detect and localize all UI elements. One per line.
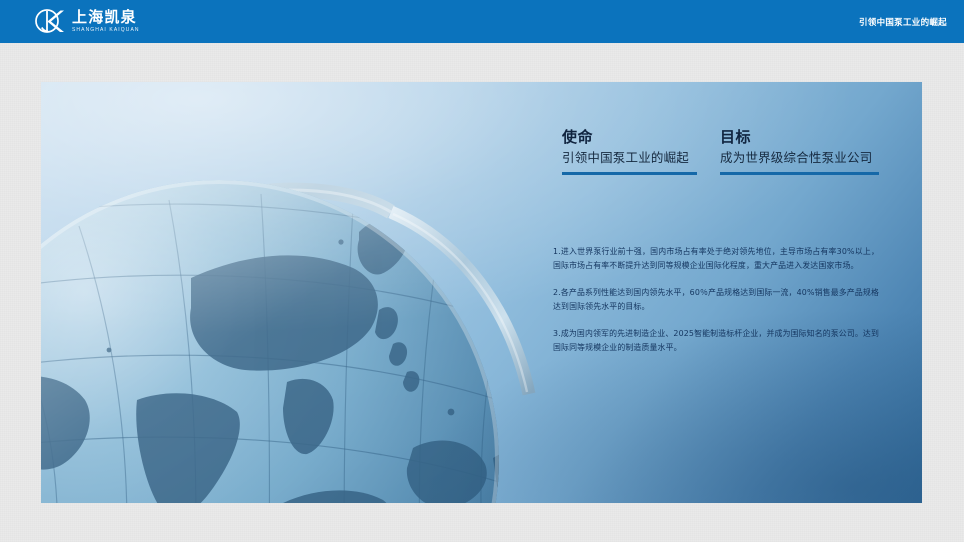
paragraph-1: 1.进入世界泵行业前十强，国内市场占有率处于绝对领先地位，主导市场占有率30%以… [553, 245, 879, 272]
goal-kicker: 目标 [720, 129, 879, 146]
headings-row: 使命 引领中国泵工业的崛起 目标 成为世界级综合性泵业公司 [562, 129, 879, 175]
mission-subtitle: 引领中国泵工业的崛起 [562, 151, 697, 165]
globe-image [41, 82, 561, 503]
logo-name-cn: 上海凯泉 [72, 10, 140, 25]
goal-subtitle: 成为世界级综合性泵业公司 [720, 151, 879, 165]
logo-name-en: SHANGHAI KAIQUAN [72, 28, 140, 33]
qx-monogram-icon [33, 6, 67, 36]
header-right-slot: 引领中国泵工业的崛起 [859, 0, 947, 43]
mission-kicker: 使命 [562, 129, 697, 146]
slide-panel: 使命 引领中国泵工业的崛起 目标 成为世界级综合性泵业公司 1.进入世界泵行业前… [41, 82, 922, 503]
body-paragraphs: 1.进入世界泵行业前十强，国内市场占有率处于绝对领先地位，主导市场占有率30%以… [553, 245, 879, 355]
heading-block-mission: 使命 引领中国泵工业的崛起 [562, 129, 697, 175]
heading-block-goal: 目标 成为世界级综合性泵业公司 [720, 129, 879, 175]
goal-underline [720, 172, 879, 175]
company-logo[interactable]: 上海凯泉 SHANGHAI KAIQUAN [33, 6, 140, 36]
top-header-bar: 上海凯泉 SHANGHAI KAIQUAN 引领中国泵工业的崛起 [0, 0, 964, 43]
slide-text-column: 使命 引领中国泵工业的崛起 目标 成为世界级综合性泵业公司 1.进入世界泵行业前… [521, 82, 922, 503]
header-tagline: 引领中国泵工业的崛起 [859, 16, 947, 28]
paragraph-3: 3.成为国内领军的先进制造企业、2025智能制造标杆企业，并成为国际知名的泵公司… [553, 327, 879, 354]
paragraph-2: 2.各产品系列性能达到国内领先水平，60％产品规格达到国际一流，40%销售最多产… [553, 286, 879, 313]
mission-underline [562, 172, 697, 175]
globe-with-meridian-ring-icon [41, 82, 561, 503]
